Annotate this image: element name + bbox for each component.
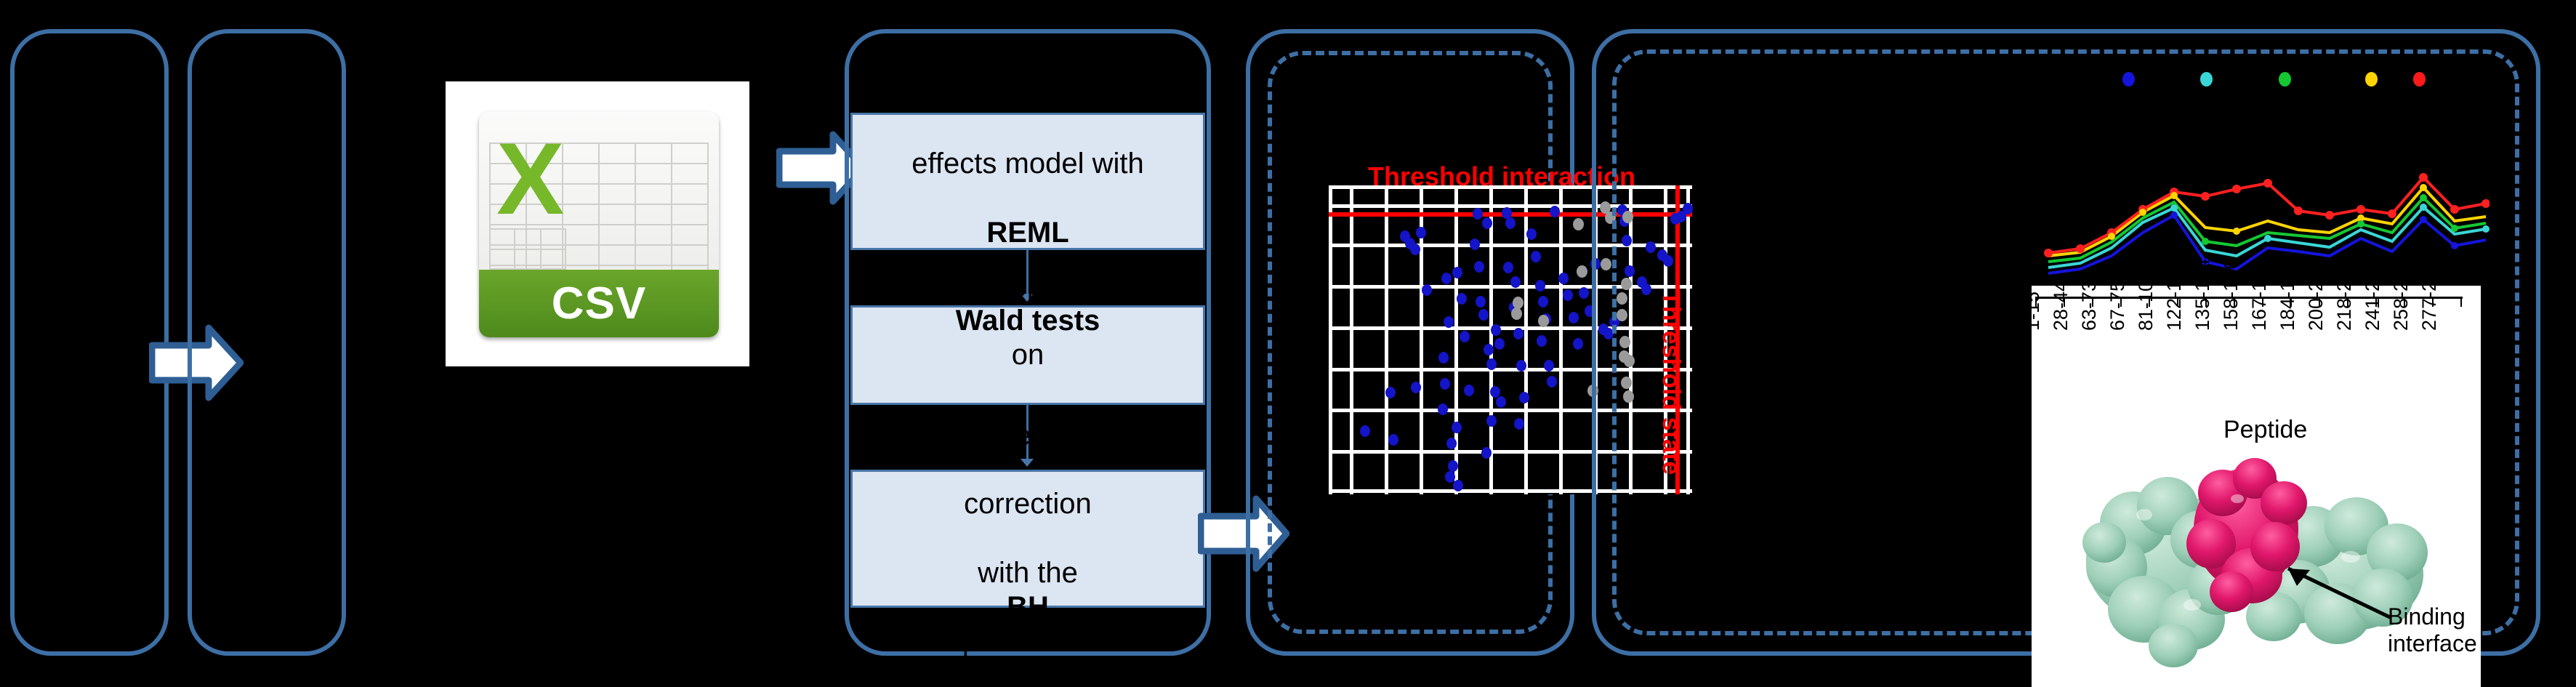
scatter-point xyxy=(1547,376,1557,387)
reml-bold: REML xyxy=(986,217,1068,249)
peptide-tick-label: 122-129 xyxy=(2163,259,2186,331)
scatter-point xyxy=(1535,280,1545,292)
step-reml-box[interactable]: Fit a linear mixed- effects model with R… xyxy=(850,113,1205,250)
scatter-point xyxy=(1481,447,1492,459)
scatter-point xyxy=(1491,324,1501,336)
legend-dot-red xyxy=(2413,72,2426,87)
peptide-tick-label: 184-199 xyxy=(2277,259,2299,331)
scatter-point xyxy=(1573,338,1583,350)
csv-file-card: X CSV xyxy=(446,81,749,366)
csv-file-icon: X CSV xyxy=(479,112,719,337)
csv-band-label: CSV xyxy=(552,278,646,329)
scatter-point-ns xyxy=(1511,308,1522,320)
peptide-tick-label: 67-75 xyxy=(2106,281,2129,331)
scatter-point xyxy=(1484,344,1494,355)
scatter-point xyxy=(1448,460,1458,472)
grid-v xyxy=(1454,185,1458,494)
scatter-point xyxy=(1537,335,1547,347)
scatter-point xyxy=(1563,289,1573,301)
scatter-point xyxy=(1416,227,1426,238)
scatter-point xyxy=(1496,396,1506,408)
step-bh-box[interactable]: Multiple testing correction with the BH … xyxy=(850,470,1205,608)
grid-v xyxy=(1350,185,1353,494)
peptide-tick-label: 200-214 xyxy=(2305,259,2327,331)
binding-interface-line2: interface xyxy=(2388,630,2477,656)
peptide-tick-label: 81-101 xyxy=(2135,270,2157,331)
legend-dot-green xyxy=(2279,72,2291,87)
scatter-point xyxy=(1438,352,1449,363)
peptide-tick-label: 241-257 xyxy=(2362,259,2384,331)
scatter-point xyxy=(1470,238,1480,250)
scatter-point xyxy=(1441,273,1452,284)
scatter-point xyxy=(1550,206,1560,217)
scatter-point xyxy=(1569,312,1579,324)
peptide-tick-label: 63-73 xyxy=(2078,281,2101,331)
scatter-point xyxy=(1410,244,1420,255)
grid-v xyxy=(1329,185,1332,494)
scatter-point xyxy=(1482,217,1492,229)
grid-v xyxy=(1385,185,1388,494)
scatter-point-ns xyxy=(1538,315,1549,327)
scatter-point xyxy=(1360,425,1370,437)
scatter-point xyxy=(1514,418,1524,430)
legend-dot-blue xyxy=(2122,72,2135,87)
peptide-tick-label: 135-144 xyxy=(2191,259,2214,331)
legend-dot-cyan xyxy=(2200,72,2213,87)
peptide-tick-label: 158-166 xyxy=(2220,259,2242,331)
peptide-tick-label: 1-15 xyxy=(2021,292,2044,331)
scatter-point xyxy=(1478,309,1489,321)
scatter-point-ns xyxy=(1577,265,1587,278)
scatter-point xyxy=(1464,385,1474,396)
scatter-point xyxy=(1457,293,1467,305)
scatter-point xyxy=(1510,276,1521,288)
scatter-point xyxy=(1385,387,1396,398)
csv-panel xyxy=(188,29,346,656)
legend-dot-yellow xyxy=(2365,72,2378,87)
scatter-point xyxy=(1473,208,1483,220)
scatter-point xyxy=(1474,261,1484,273)
binding-interface-annotation: Binding interface xyxy=(2388,603,2477,657)
scatter-point xyxy=(1453,480,1463,491)
scatter-point xyxy=(1486,358,1497,370)
scatter-point xyxy=(1486,415,1497,427)
scatter-point-ns xyxy=(1573,218,1584,230)
wald-bold: Wald tests xyxy=(956,305,1100,337)
scatter-point xyxy=(1460,331,1470,342)
peptide-tick-label: 277-284 xyxy=(2418,259,2441,331)
y-tick-label-0: 0.0 xyxy=(1995,278,2020,299)
grid-v xyxy=(1559,185,1563,494)
peptide-tick-label: 28-44 xyxy=(2050,281,2072,331)
scatter-point xyxy=(1519,392,1529,403)
scatter-point xyxy=(1476,296,1486,308)
excel-x-glyph: X xyxy=(496,128,564,230)
bh-bold: BH xyxy=(1007,591,1049,623)
scatter-point xyxy=(1444,316,1454,328)
csv-band: CSV xyxy=(479,270,719,337)
step-wald-box[interactable]: Apply Wald tests on the model parameters xyxy=(850,305,1205,405)
scatter-point xyxy=(1513,328,1524,340)
scatter-point xyxy=(1388,434,1398,446)
scatter-point xyxy=(1452,267,1462,278)
input-panel xyxy=(10,29,169,656)
scatter-point xyxy=(1446,438,1457,449)
peptide-tick-label: 218-237 xyxy=(2333,259,2356,331)
scatter-point xyxy=(1544,360,1554,371)
scatter-point xyxy=(1558,273,1569,284)
scatter-point xyxy=(1516,360,1526,371)
peptide-tick-label: 258-266 xyxy=(2390,259,2412,331)
scatter-point xyxy=(1538,296,1548,308)
scatter-point xyxy=(1494,338,1505,350)
scatter-point xyxy=(1503,262,1513,273)
scatter-point xyxy=(1438,403,1448,415)
scatter-point xyxy=(1526,228,1537,240)
scatter-point xyxy=(1531,251,1541,262)
scatter-point xyxy=(1422,284,1432,296)
scatter-point xyxy=(1579,287,1589,299)
peptide-tick-label: 167-180 xyxy=(2248,259,2271,331)
axis-tick xyxy=(2460,299,2462,307)
scatter-point xyxy=(1440,378,1450,390)
scatter-point xyxy=(1505,217,1516,229)
step-bh-text: Multiple testing correction with the BH … xyxy=(922,419,1134,659)
scatter-point xyxy=(1411,382,1421,393)
scatter-point xyxy=(1452,422,1462,433)
binding-interface-line1: Binding xyxy=(2388,603,2466,630)
